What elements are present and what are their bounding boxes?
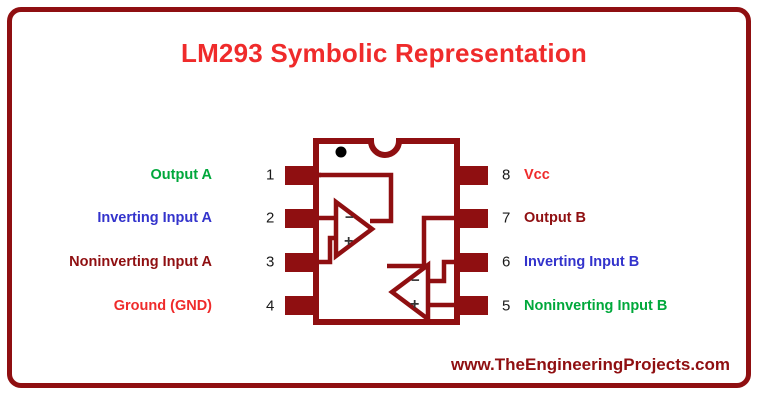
opamp-a-plus-label: +: [344, 233, 353, 250]
pin-tab-3: [285, 253, 318, 272]
pin-tab-5: [455, 296, 488, 315]
pin-tab-1: [285, 166, 318, 185]
pin-tab-7: [455, 209, 488, 228]
pin-1-dot-icon: [336, 147, 347, 158]
lm293-schematic: − + − +: [0, 0, 768, 405]
opamp-b-plus-label: +: [410, 296, 419, 313]
site-footer: www.TheEngineeringProjects.com: [451, 355, 730, 375]
pin-tab-2: [285, 209, 318, 228]
pin-tab-4: [285, 296, 318, 315]
opamp-b-minus-label: −: [411, 272, 420, 289]
pin-tab-6: [455, 253, 488, 272]
opamp-a-minus-label: −: [345, 209, 354, 226]
diagram-page: LM293 Symbolic Representation Output A 1…: [0, 0, 768, 405]
pin-tab-8: [455, 166, 488, 185]
